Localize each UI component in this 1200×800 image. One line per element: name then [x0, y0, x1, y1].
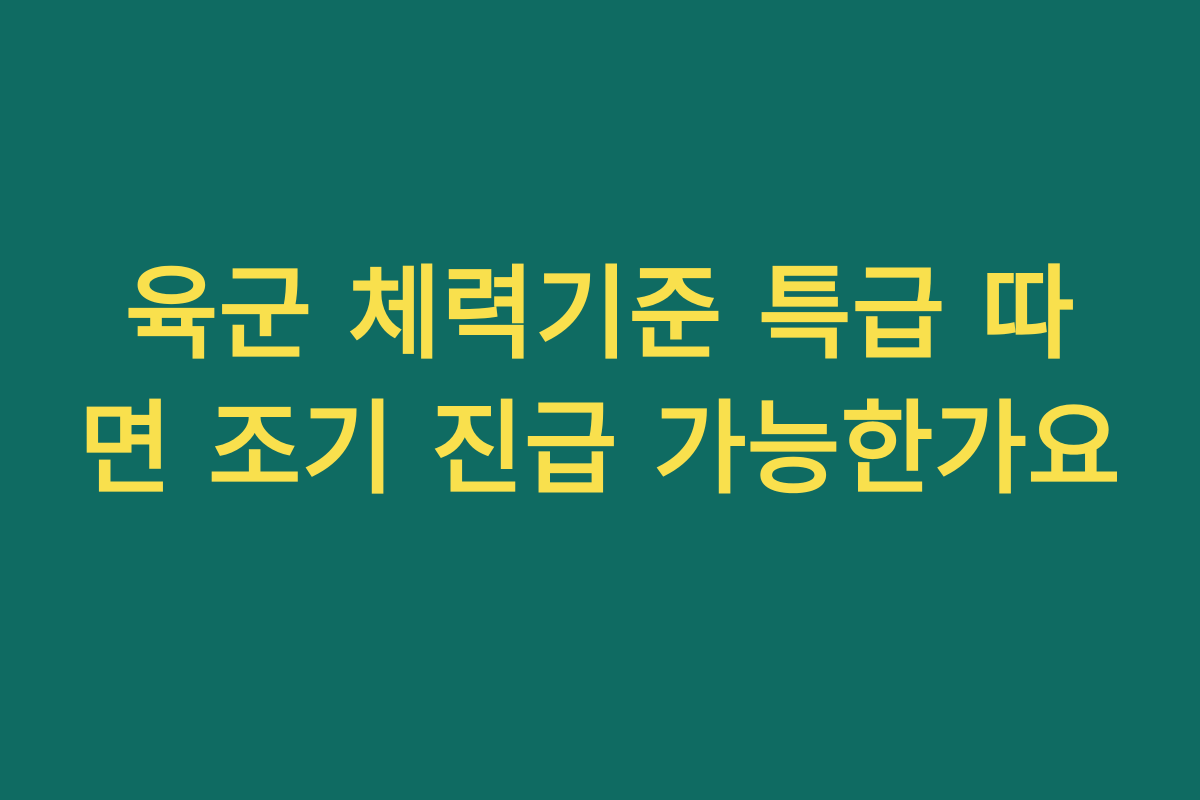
headline-line-1: 육군 체력기준 특급 따: [125, 247, 1075, 382]
text-card-canvas: 육군 체력기준 특급 따 면 조기 진급 가능한가요: [0, 0, 1200, 800]
headline-block: 육군 체력기준 특급 따 면 조기 진급 가능한가요: [30, 247, 1170, 516]
headline-line-2: 면 조기 진급 가능한가요: [79, 382, 1121, 516]
